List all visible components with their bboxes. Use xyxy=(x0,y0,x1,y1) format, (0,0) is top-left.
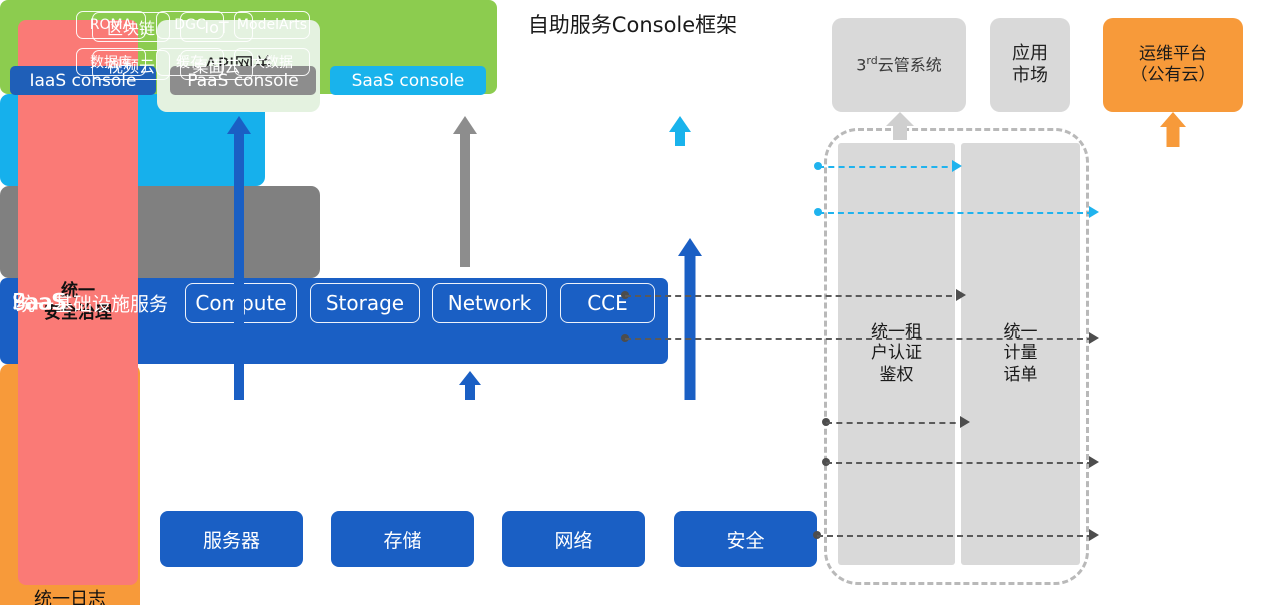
hardware-box-server: 服务器 xyxy=(160,511,303,567)
connector-infra-to-ops xyxy=(826,462,1093,464)
connector-hardware-to-ops xyxy=(817,535,1093,537)
arrowhead-infra-to-metering xyxy=(960,416,970,428)
arrow-ops-to-ops-public xyxy=(1159,112,1187,147)
architecture-diagram: 统一 安全治理 API网关 自助服务Console框架 IaaS console… xyxy=(0,0,1265,605)
unified-tenant-auth-column: 统一租 户认证 鉴权 xyxy=(838,143,955,565)
connector-paas-to-auth xyxy=(625,295,962,297)
hardware-box-security: 安全 xyxy=(674,511,817,567)
metering-line-3: 话单 xyxy=(1004,365,1038,386)
third-cloud-prefix: 3 xyxy=(856,56,866,75)
connector-paas-to-ops xyxy=(625,338,1093,340)
metering-line-1: 统一 xyxy=(1004,322,1038,343)
unified-metering-billing-column: 统一 计量 话单 xyxy=(961,143,1080,565)
third-cloud-sup: rd xyxy=(866,54,877,67)
connector-saas-to-metering xyxy=(818,166,958,168)
paas-tag-dgc[interactable]: DGC xyxy=(156,11,224,39)
paas-tag-bigdata[interactable]: 大数据 xyxy=(234,48,310,76)
third-party-cloud-management-box: 3rd云管系统 xyxy=(832,18,966,112)
infra-tag-cce[interactable]: CCE xyxy=(560,283,655,323)
hardware-box-network: 网络 xyxy=(502,511,645,567)
arrow-infra-to-api-gateway xyxy=(227,116,251,400)
arrowhead-saas-to-metering xyxy=(952,160,962,172)
auth-line-3: 鉴权 xyxy=(871,365,922,386)
arrow-infra-to-paas xyxy=(458,371,482,400)
arrow-zone-to-third-cloud xyxy=(886,112,914,140)
arrow-infra-to-saas xyxy=(678,238,702,400)
arrowhead-infra-to-ops xyxy=(1089,456,1099,468)
metering-line-2: 计量 xyxy=(1004,343,1038,364)
arrowhead-paas-to-auth xyxy=(956,289,966,301)
paas-tag-database[interactable]: 数据库 xyxy=(76,48,146,76)
app-market-line-1: 应用 xyxy=(1012,43,1048,66)
hardware-box-storage: 存储 xyxy=(331,511,474,567)
ops-right-line-3: 统一日志 xyxy=(34,587,106,605)
app-market-line-2: 市场 xyxy=(1012,65,1048,88)
arrowhead-paas-to-ops xyxy=(1089,332,1099,344)
app-market-box: 应用 市场 xyxy=(990,18,1070,112)
infra-tag-storage[interactable]: Storage xyxy=(310,283,420,323)
paas-tag-cache[interactable]: 缓存 xyxy=(156,48,224,76)
third-cloud-suffix: 云管系统 xyxy=(878,56,942,75)
paas-tag-modelarts[interactable]: ModelArts xyxy=(234,11,310,39)
arrowhead-saas-to-ops xyxy=(1089,206,1099,218)
connector-saas-to-ops xyxy=(818,212,1093,214)
chip-saas-console[interactable]: SaaS console xyxy=(330,66,486,95)
auth-line-2: 户认证 xyxy=(871,343,922,364)
ops-platform-public-cloud-box: 运维平台 （公有云） xyxy=(1103,18,1243,112)
infra-label: 统一基础设施服务 xyxy=(16,289,168,316)
arrowhead-hardware-to-ops xyxy=(1089,529,1099,541)
auth-line-1: 统一租 xyxy=(871,322,922,343)
infra-tag-network[interactable]: Network xyxy=(432,283,547,323)
paas-tag-roma[interactable]: ROMA xyxy=(76,11,146,39)
arrow-saas-to-console xyxy=(668,116,692,146)
connector-infra-to-metering xyxy=(826,422,966,424)
ops-public-line-2: （公有云） xyxy=(1131,65,1216,86)
third-cloud-label: 3rd云管系统 xyxy=(856,54,942,75)
arrow-paas-to-console xyxy=(453,116,477,267)
ops-public-line-1: 运维平台 xyxy=(1131,44,1216,65)
